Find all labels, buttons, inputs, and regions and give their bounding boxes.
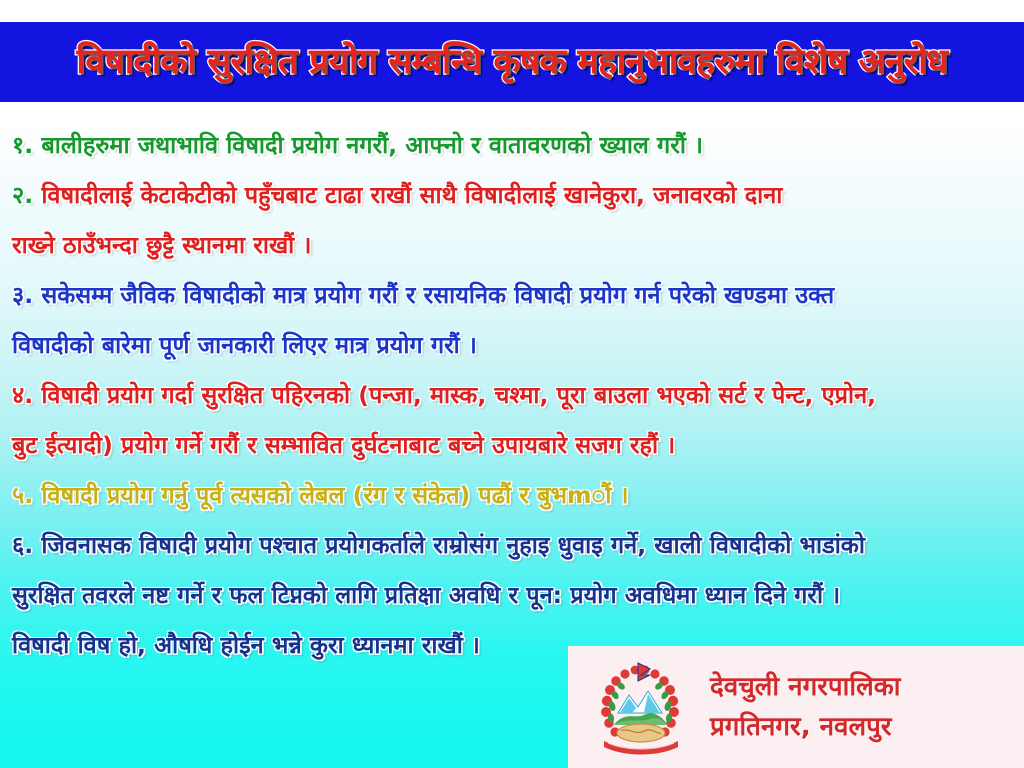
list-item-text: जिवनासक विषादी प्रयोग पश्चात प्रयोगकर्ता… (41, 531, 865, 559)
list-item-number: १. (12, 131, 33, 159)
list-item-continuation: सुरक्षित तवरले नष्ट गर्ने र फल टिप्नको ल… (12, 570, 1016, 620)
list-item-number: २. (12, 181, 33, 209)
list-item: ६. जिवनासक विषादी प्रयोग पश्चात प्रयोगकर… (12, 520, 1016, 570)
list-item: ५. विषादी प्रयोग गर्नु पूर्व त्यसको लेबल… (12, 470, 1016, 520)
title-banner: विषादीको सुरक्षित प्रयोग सम्बन्धि कृषक म… (0, 22, 1024, 102)
list-item: २. विषादीलाई केटाकेटीको पहुँचबाट टाढा रा… (12, 170, 1016, 220)
advisory-list: १. बालीहरुमा जथाभावि विषादी प्रयोग नगरौं… (12, 120, 1016, 670)
page-title: विषादीको सुरक्षित प्रयोग सम्बन्धि कृषक म… (76, 45, 947, 80)
footer-organization-name: देवचुली नगरपालिका (710, 667, 900, 707)
list-item-text: विषादी प्रयोग गर्दा सुरक्षित पहिरनको (पन… (41, 381, 876, 409)
footer-card: देवचुली नगरपालिका प्रगतिनगर, नवलपुर (568, 646, 1024, 768)
list-item: १. बालीहरुमा जथाभावि विषादी प्रयोग नगरौं… (12, 120, 1016, 170)
list-item-number: ३. (12, 281, 33, 309)
poster-canvas: विषादीको सुरक्षित प्रयोग सम्बन्धि कृषक म… (0, 0, 1024, 768)
list-item-number: ५. (12, 481, 33, 509)
nepal-government-emblem-icon (594, 657, 686, 757)
list-item: ३. सकेसम्म जैविक विषादीको मात्र प्रयोग ग… (12, 270, 1016, 320)
list-item-text: बालीहरुमा जथाभावि विषादी प्रयोग नगरौं, आ… (41, 131, 703, 159)
list-item-text: विषादी प्रयोग गर्नु पूर्व त्यसको लेबल (र… (41, 481, 628, 509)
list-item-continuation: विषादीको बारेमा पूर्ण जानकारी लिएर मात्र… (12, 320, 1016, 370)
list-item-continuation: बुट ईत्यादी) प्रयोग गर्ने गरौं र सम्भावि… (12, 420, 1016, 470)
list-item-text: विषादीलाई केटाकेटीको पहुँचबाट टाढा राखौं… (41, 181, 782, 209)
list-item-number: ६. (12, 531, 33, 559)
footer-organization-block: देवचुली नगरपालिका प्रगतिनगर, नवलपुर (710, 667, 900, 747)
list-item-number: ४. (12, 381, 33, 409)
footer-address: प्रगतिनगर, नवलपुर (710, 707, 900, 747)
list-item: ४. विषादी प्रयोग गर्दा सुरक्षित पहिरनको … (12, 370, 1016, 420)
list-item-continuation: राख्ने ठाउँभन्दा छुट्टै स्थानमा राखौं । (12, 220, 1016, 270)
list-item-text: सकेसम्म जैविक विषादीको मात्र प्रयोग गरौं… (41, 281, 834, 309)
